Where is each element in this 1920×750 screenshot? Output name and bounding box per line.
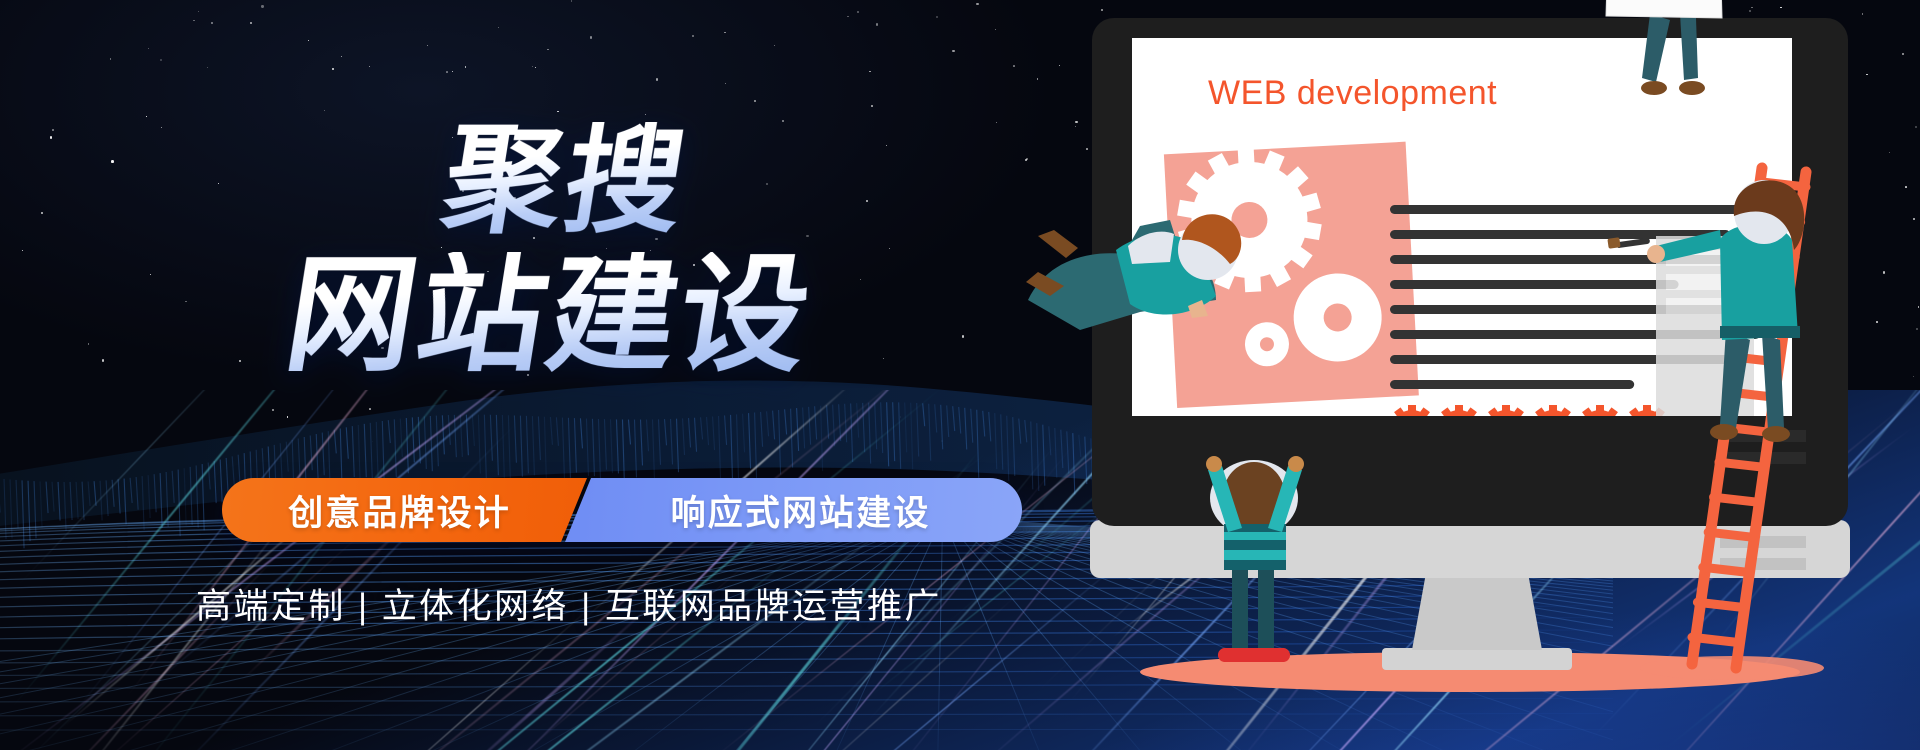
blueprint-shoe-right (1679, 81, 1705, 95)
painter-belt (1720, 326, 1800, 338)
brand-title-line-1: 聚搜 (436, 122, 695, 240)
hero-banner: 聚搜 网站建设 创意品牌设计 响应式网站建设 高端定制 | 立体化网络 | 互联… (0, 0, 1920, 750)
pill-segment-creative-branding[interactable]: 创意品牌设计 (222, 478, 587, 542)
blueprint-shoe-left (1641, 81, 1667, 95)
child-hand-left (1206, 456, 1222, 472)
child-leg-left (1232, 566, 1248, 650)
screen-heading: WEB development (1208, 74, 1497, 112)
headline-block: 聚搜 网站建设 创意品牌设计 响应式网站建设 高端定制 | 立体化网络 | 互联… (0, 0, 1060, 750)
brand-title-line-2: 网站建设 (278, 252, 821, 380)
painter-shoe-right (1762, 426, 1790, 442)
pill-left-label: 创意品牌设计 (288, 485, 511, 536)
blueprint-sheet (1606, 0, 1722, 18)
monitor-base (1382, 648, 1572, 670)
illustration-web-development-scene: WEB development (1020, 0, 1920, 750)
child-striped-shirt (1224, 524, 1286, 570)
tagline: 高端定制 | 立体化网络 | 互联网品牌运营推广 (196, 578, 942, 629)
child-leg-right (1258, 566, 1274, 650)
pill-segment-responsive-web[interactable]: 响应式网站建设 (565, 478, 1022, 542)
child-shoe-right (1254, 648, 1290, 662)
pill-right-label: 响应式网站建设 (671, 485, 931, 536)
child-shoe-left (1218, 648, 1254, 662)
painter-shoe-left (1710, 424, 1738, 440)
service-tag-pill[interactable]: 创意品牌设计 响应式网站建设 (222, 478, 1022, 542)
child-hand-right (1288, 456, 1304, 472)
illustration-svg: WEB development (1020, 0, 1920, 750)
painter-hand (1647, 245, 1665, 263)
